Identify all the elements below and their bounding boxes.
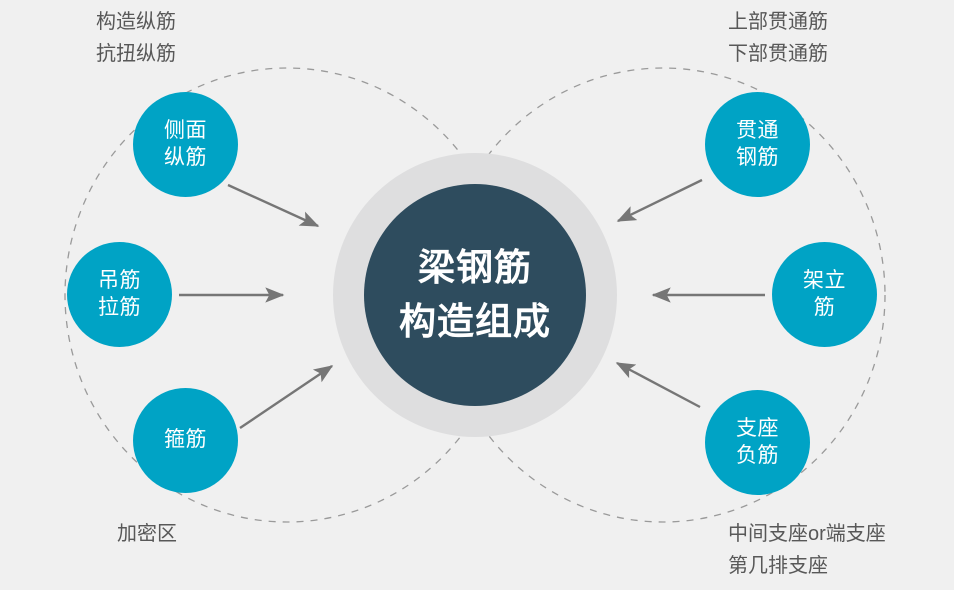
arrow-stirrup (240, 366, 332, 428)
node-label-line2: 拉筋 (98, 295, 141, 322)
arrow-side-longitudinal (228, 185, 318, 226)
label-bottom-right-line1: 中间支座or端支座 (728, 518, 886, 550)
center-title-line1: 梁钢筋 (418, 241, 532, 295)
node-label-line2: 负筋 (736, 443, 779, 470)
label-top-left: 构造纵筋 抗扭纵筋 (96, 6, 176, 70)
node-label-line2: 筋 (814, 295, 836, 322)
label-bottom-right: 中间支座or端支座 第几排支座 (728, 518, 886, 582)
label-top-right-line1: 上部贯通筋 (728, 6, 828, 38)
center-title-line2: 构造组成 (399, 295, 551, 349)
node-side-longitudinal[interactable]: 侧面 纵筋 (133, 92, 238, 197)
node-label-line1: 侧面 (164, 118, 207, 145)
label-bottom-left-line1: 加密区 (117, 518, 177, 550)
label-top-right-line2: 下部贯通筋 (728, 38, 828, 70)
label-bottom-left: 加密区 (117, 518, 177, 550)
node-support-negative[interactable]: 支座 负筋 (705, 390, 810, 495)
center-node[interactable]: 梁钢筋 构造组成 (364, 184, 586, 406)
node-hanger-tie[interactable]: 吊筋 拉筋 (67, 242, 172, 347)
node-label-line2: 纵筋 (164, 145, 207, 172)
label-bottom-right-line2: 第几排支座 (728, 550, 886, 582)
arrow-support-negative (617, 363, 700, 407)
node-label-line1: 吊筋 (98, 268, 141, 295)
node-stirrup[interactable]: 箍筋 (133, 388, 238, 493)
node-through-rebar[interactable]: 贯通 钢筋 (705, 92, 810, 197)
node-label-line1: 箍筋 (164, 427, 207, 454)
diagram-canvas: 梁钢筋 构造组成 侧面 纵筋 吊筋 拉筋 箍筋 贯通 钢筋 架立 筋 支座 负筋… (0, 0, 954, 590)
label-top-left-line1: 构造纵筋 (96, 6, 176, 38)
label-top-right: 上部贯通筋 下部贯通筋 (728, 6, 828, 70)
node-label-line1: 支座 (736, 416, 779, 443)
label-top-left-line2: 抗扭纵筋 (96, 38, 176, 70)
node-erection-bar[interactable]: 架立 筋 (772, 242, 877, 347)
node-label-line1: 贯通 (736, 118, 779, 145)
node-label-line1: 架立 (803, 268, 846, 295)
node-label-line2: 钢筋 (736, 145, 779, 172)
arrow-through-rebar (618, 180, 702, 221)
